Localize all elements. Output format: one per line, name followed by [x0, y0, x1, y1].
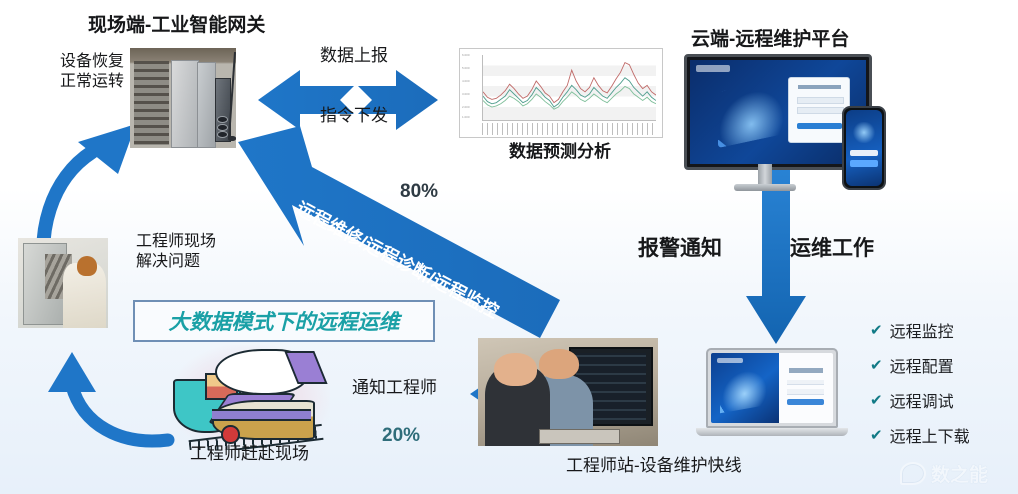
capability-label: 远程监控 — [890, 318, 954, 342]
platform-logo-icon — [696, 65, 730, 72]
capability-label: 远程配置 — [890, 353, 954, 377]
device-recovered-line1: 设备恢复 — [60, 52, 124, 72]
diagram-title-text: 大数据模式下的远程运维 — [169, 306, 400, 336]
check-icon: ✔ — [870, 356, 883, 374]
engineer-travel-clipart — [170, 345, 330, 450]
flow-alarm-notice-label: 报警通知 — [638, 236, 722, 262]
chart-ytick-5: 5.000 — [462, 66, 470, 70]
arrow-curved-travel-to-onsite — [48, 352, 168, 441]
isometric-illustration — [718, 78, 785, 148]
check-icon: ✔ — [870, 426, 883, 444]
capability-item-0: ✔ 远程监控 — [870, 318, 970, 342]
diagram-title-box: 大数据模式下的远程运维 — [133, 300, 435, 342]
remote-maintenance-diagram: 现场端-工业智能网关 设备恢复 正常运转 数据上报 指令下发 6.000 5.0… — [0, 0, 1018, 494]
engineer-travel-label: 工程师赶赴现场 — [190, 444, 309, 465]
capability-label: 远程调试 — [890, 388, 954, 412]
flow-ops-work-label: 运维工作 — [790, 236, 874, 262]
monitor-base — [734, 184, 796, 191]
cloud-platform-devices — [684, 54, 884, 194]
chart-series-lines — [483, 55, 656, 120]
prediction-chart-thumbnail: 6.000 5.000 4.000 3.000 2.000 1.000 — [459, 48, 663, 138]
field-gateway-label: 现场端-工业智能网关 — [88, 14, 265, 37]
engineer-onsite-line1: 工程师现场 — [136, 232, 216, 252]
ops-laptop — [696, 348, 848, 438]
watermark-text: 数之能 — [931, 460, 988, 487]
chart-ytick-2: 2.000 — [462, 105, 470, 109]
watermark: 数之能 — [900, 460, 988, 487]
flow-remote-percent: 80% — [400, 180, 438, 203]
chart-ytick-3: 3.000 — [462, 92, 470, 96]
flow-data-upload-label: 数据上报 — [320, 46, 388, 67]
chart-ytick-4: 4.000 — [462, 79, 470, 83]
chart-ytick-6: 6.000 — [462, 53, 470, 57]
engineer-onsite-photo — [18, 238, 108, 328]
check-icon: ✔ — [870, 321, 883, 339]
capability-list: ✔ 远程监控 ✔ 远程配置 ✔ 远程调试 ✔ 远程上下载 — [870, 318, 970, 458]
capability-item-3: ✔ 远程上下载 — [870, 423, 970, 447]
chart-caption: 数据预测分析 — [459, 142, 661, 163]
capability-item-2: ✔ 远程调试 — [870, 388, 970, 412]
monitor-stand — [758, 164, 772, 184]
capability-item-1: ✔ 远程配置 — [870, 353, 970, 377]
chart-ytick-1: 1.000 — [462, 115, 470, 119]
login-panel — [788, 77, 850, 143]
engineer-onsite-label: 工程师现场 解决问题 — [136, 232, 216, 271]
capability-label: 远程上下载 — [890, 423, 970, 447]
flow-notify-percent: 20% — [382, 424, 420, 447]
mobile-phone — [842, 106, 886, 190]
cloud-platform-label: 云端-远程维护平台 — [691, 28, 849, 51]
check-icon: ✔ — [870, 391, 883, 409]
device-recovered-label: 设备恢复 正常运转 — [60, 52, 124, 91]
flow-notify-engineer-label: 通知工程师 — [352, 378, 437, 399]
engineer-onsite-line2: 解决问题 — [136, 252, 216, 272]
industrial-cabinet-photo — [130, 48, 236, 148]
flow-command-dispatch-label: 指令下发 — [320, 106, 388, 127]
weibo-eye-icon — [900, 462, 926, 485]
engineer-station-label: 工程师站-设备维护快线 — [566, 456, 742, 477]
device-recovered-line2: 正常运转 — [60, 72, 124, 92]
engineer-station-photo — [478, 338, 658, 446]
chart-xticks — [482, 123, 656, 135]
